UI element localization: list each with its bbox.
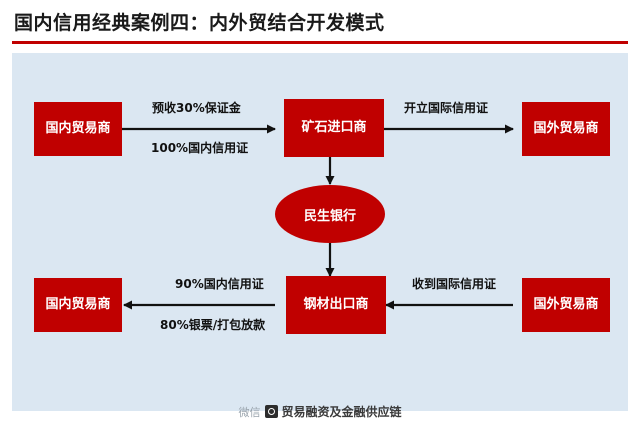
node-label: 国内贸易商: [45, 297, 110, 313]
watermark-ghost-text: 微信: [238, 404, 260, 420]
title-underline: [12, 41, 628, 44]
node-foreign-trader-top[interactable]: 国外贸易商: [522, 102, 610, 156]
flow-label-domestic-lc-100: 100%国内信用证: [151, 139, 248, 156]
node-label: 国内贸易商: [45, 121, 110, 137]
node-label: 钢材出口商: [303, 297, 368, 313]
node-label: 民生银行: [304, 205, 356, 224]
node-foreign-trader-bottom[interactable]: 国外贸易商: [522, 278, 610, 332]
flow-label-open-international-lc: 开立国际信用证: [404, 99, 488, 116]
node-label: 国外贸易商: [533, 121, 598, 137]
node-ore-importer[interactable]: 矿石进口商: [284, 99, 384, 157]
page-title: 国内信用经典案例四：内外贸结合开发模式: [14, 8, 385, 35]
flow-label-bank-note-80: 80%银票/打包放款: [160, 316, 265, 333]
node-minsheng-bank[interactable]: 民生银行: [275, 185, 385, 243]
slide-root: 国内信用经典案例四：内外贸结合开发模式 国内贸易商: [0, 0, 640, 424]
flow-label-receive-international-lc: 收到国际信用证: [412, 275, 496, 292]
node-domestic-trader-top[interactable]: 国内贸易商: [34, 102, 122, 156]
flow-label-domestic-lc-90: 90%国内信用证: [175, 275, 264, 292]
watermark-text: 贸易融资及金融供应链: [281, 403, 401, 420]
node-domestic-trader-bottom[interactable]: 国内贸易商: [34, 278, 122, 332]
node-label: 矿石进口商: [301, 120, 366, 136]
flow-label-prepay-30-deposit: 预收30%保证金: [152, 99, 241, 116]
wechat-logo-icon: [265, 405, 278, 418]
node-steel-exporter[interactable]: 钢材出口商: [286, 276, 386, 334]
diagram-canvas: 国内贸易商 矿石进口商 国外贸易商 民生银行 国内贸易商 钢材出口商 国外贸易商…: [12, 53, 628, 411]
watermark: 微信 贸易融资及金融供应链: [0, 403, 640, 420]
node-label: 国外贸易商: [533, 297, 598, 313]
